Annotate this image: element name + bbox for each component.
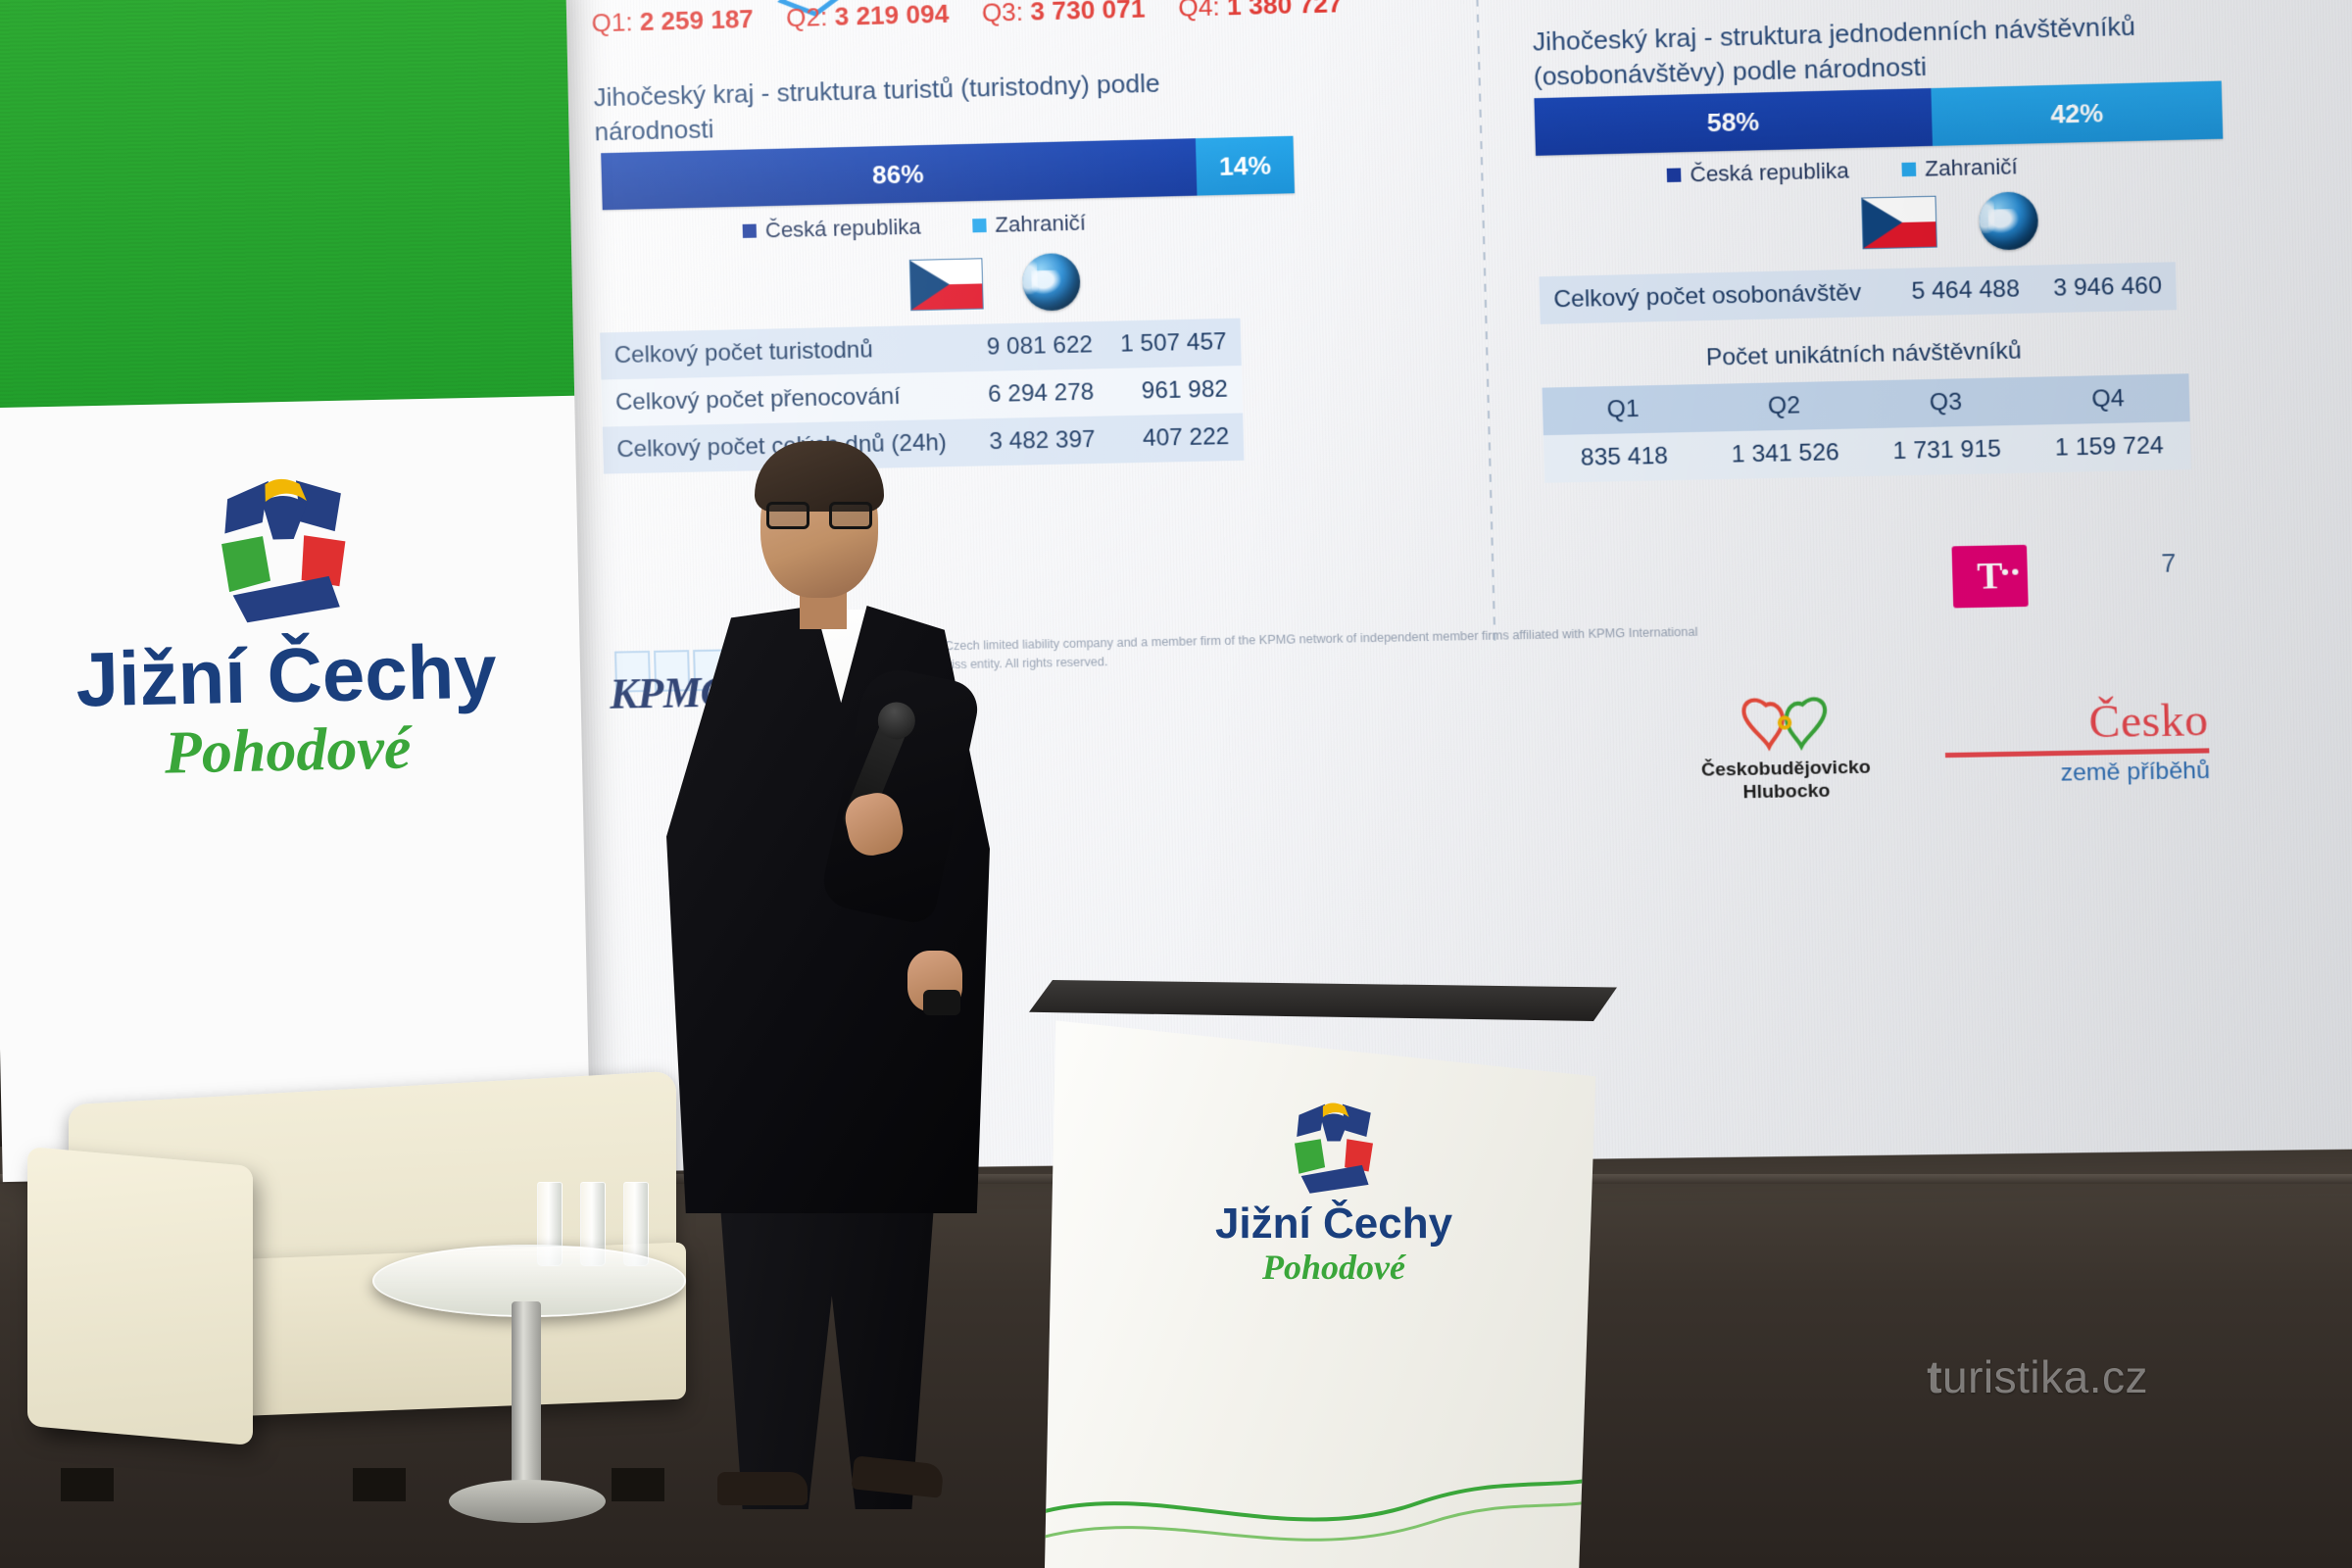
podium-desktop [1029, 980, 1617, 1021]
unique-visitors-table: Q1 Q2 Q3 Q4 835 418 1 341 526 1 731 915 … [1543, 373, 2192, 483]
left-legend-item-foreign: Zahraničí [972, 210, 1087, 238]
watermark-text: uristika.cz [1942, 1351, 2148, 1402]
jizni-cechy-emblem-icon [191, 468, 376, 627]
right-row0-label: Celkový počet osobonávštěv [1539, 269, 1883, 324]
right-bar-foreign-label: 42% [2050, 97, 2104, 129]
banner-green-block [0, 0, 574, 408]
unique-value-q4: 1 159 724 [2028, 421, 2191, 472]
right-legend-label-domestic: Česká republika [1690, 158, 1849, 187]
left-q4-label: Q4: [1178, 0, 1220, 23]
podium-logo-name: Jižní Čechy [1172, 1200, 1495, 1249]
unique-header-q2: Q2 [1703, 380, 1866, 431]
ceskobudejovicko-line2: Hlubocko [1701, 780, 1871, 806]
banner-logo-name: Jižní Čechy [30, 626, 542, 726]
left-row1-domestic: 6 294 278 [958, 368, 1108, 419]
left-q1-label: Q1: [591, 7, 633, 37]
turistika-watermark: turistika.cz [1927, 1350, 2148, 1403]
lectern-podium: Jižní Čechy Pohodové [1029, 980, 1617, 1568]
cesko-tagline: země příběhů [1945, 758, 2210, 790]
legend-swatch-foreign-icon [972, 219, 987, 232]
right-row0-foreign: 3 946 460 [2033, 262, 2177, 313]
right-bar-domestic-segment: 58% [1534, 88, 1933, 156]
slide-page-number: 7 [2161, 548, 2177, 579]
podium-jizni-cechy-logo: Jižní Čechy Pohodové [1172, 1098, 1495, 1288]
left-row0-foreign: 1 507 457 [1105, 318, 1241, 368]
sofa-leg [61, 1468, 114, 1501]
table-stem [512, 1301, 541, 1493]
left-q4-value: 1 380 727 [1227, 0, 1343, 21]
tmobile-dots-icon [2002, 568, 2019, 574]
ceskobudejovicko-line1: Českobudějovicko [1701, 757, 1871, 782]
left-q1-value: 2 259 187 [639, 4, 754, 36]
presenter-shoe [717, 1472, 808, 1505]
banner-jizni-cechy-logo: Jižní Čechy Pohodové [27, 465, 544, 792]
right-legend-item-foreign: Zahraničí [1901, 154, 2018, 182]
cz-flag-icon [909, 258, 984, 311]
conference-stage-photo: Počet turistodnů: Q1: 2 259 187 Q2: 3 21… [0, 0, 2352, 1568]
left-banner-wall: Jižní Čechy Pohodové [0, 0, 591, 1182]
sofa-armrest [27, 1147, 253, 1445]
jizni-cechy-emblem-icon [1276, 1098, 1392, 1196]
left-bar-foreign-segment: 14% [1196, 136, 1295, 196]
presentation-clicker [923, 990, 960, 1015]
left-legend-label-domestic: Česká republika [765, 215, 921, 244]
table-base [449, 1480, 606, 1523]
right-legend-label-foreign: Zahraničí [1925, 154, 2019, 182]
unique-value-q2: 1 341 526 [1704, 428, 1867, 479]
watermark-t: t [1927, 1351, 1942, 1402]
left-bar-foreign-label: 14% [1219, 150, 1272, 182]
unique-header-q3: Q3 [1864, 377, 2028, 428]
unique-value-q1: 835 418 [1543, 432, 1705, 483]
tmobile-letter: T [1977, 558, 2003, 596]
left-row2-foreign: 407 222 [1108, 413, 1244, 463]
legend-swatch-foreign-icon [1901, 163, 1916, 177]
cesko-zeme-pribehu-logo: Česko země příběhů [1943, 693, 2210, 789]
unique-header-q4: Q4 [2026, 373, 2189, 424]
left-q3-label: Q3: [981, 0, 1023, 27]
right-row0-domestic: 5 464 488 [1882, 266, 2034, 317]
right-bar-foreign-segment: 42% [1932, 81, 2224, 146]
left-row0-domestic: 9 081 622 [957, 321, 1107, 372]
cesko-wordmark: Česko [1943, 693, 2209, 751]
podium-body: Jižní Čechy Pohodové [1045, 1009, 1601, 1568]
unique-header-q1: Q1 [1543, 384, 1704, 435]
left-row1-foreign: 961 982 [1107, 366, 1243, 416]
left-q2-value: 3 219 094 [834, 0, 949, 31]
left-bar-domestic-label: 86% [872, 159, 924, 190]
unique-value-q3: 1 731 915 [1866, 425, 2030, 476]
tmobile-logo: T [1952, 545, 2029, 609]
left-q3-value: 3 730 071 [1030, 0, 1146, 26]
podium-logo-subtitle: Pohodové [1172, 1247, 1495, 1288]
left-legend-label-foreign: Zahraničí [995, 210, 1086, 237]
ceskobudejovicko-hearts-icon [1736, 694, 1834, 754]
right-bar-domestic-label: 58% [1706, 106, 1759, 138]
left-q2-label: Q2: [786, 2, 828, 32]
left-row0-label: Celkový počet turistodnů [600, 324, 958, 379]
legend-swatch-domestic-icon [743, 224, 757, 238]
right-legend-item-domestic: Česká republika [1667, 158, 1850, 188]
presenter-speaker [608, 441, 1019, 1509]
eyeglasses-icon [766, 502, 872, 531]
podium-green-wave-decoration [1045, 1421, 1601, 1568]
legend-swatch-domestic-icon [1667, 168, 1682, 182]
left-row1-label: Celkový počet přenocování [601, 371, 959, 426]
cz-flag-icon [1861, 196, 1937, 250]
ceskobudejovicko-logo: Českobudějovicko Hlubocko [1699, 693, 1872, 805]
left-legend-item-domestic: Česká republika [742, 215, 921, 244]
